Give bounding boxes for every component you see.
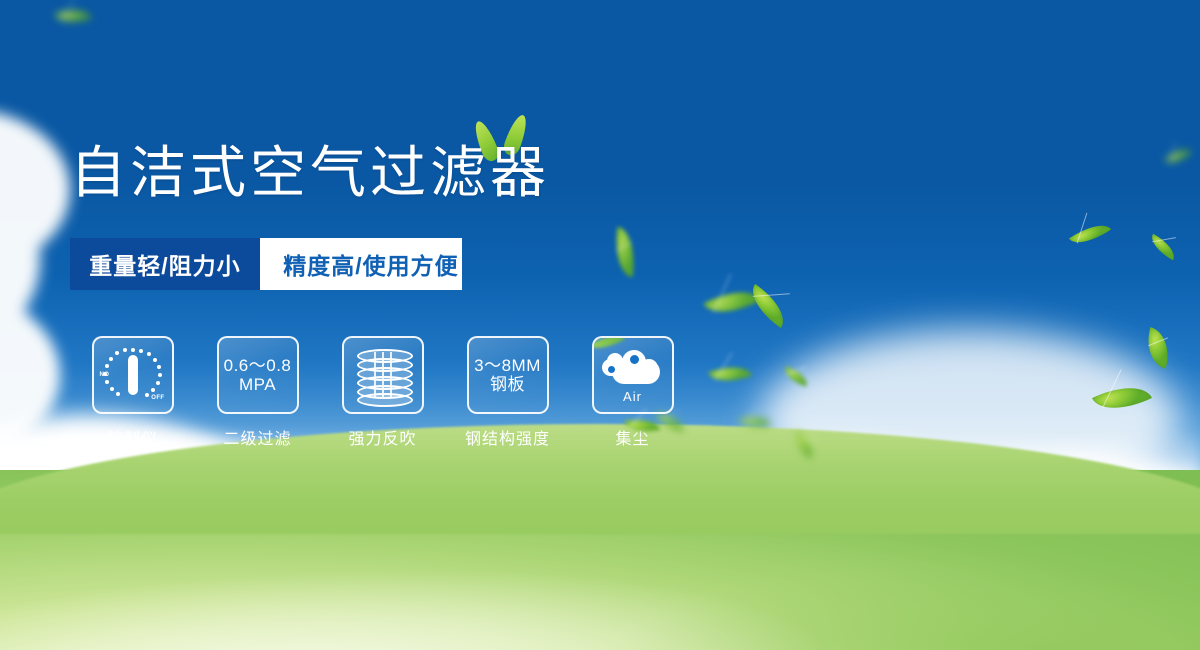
- page-title: 自洁式空气过滤器: [70, 145, 550, 201]
- feature-item-two-stage-filter[interactable]: 0.6～0.8 MPA 二级过滤: [195, 336, 320, 449]
- plate-thickness-text: 3～8MM: [474, 356, 541, 375]
- leaf-icon: [1069, 216, 1111, 252]
- subtitle-bar: 重量轻/阻力小 精度高/使用方便: [70, 238, 462, 290]
- hero-banner: 自洁式空气过滤器 重量轻/阻力小 精度高/使用方便: [0, 0, 1200, 650]
- pressure-unit-text: MPA: [239, 375, 276, 394]
- feature-item-steel-strength[interactable]: 3～8MM 钢板 钢结构强度: [445, 336, 570, 449]
- plate-material-text: 钢板: [490, 375, 525, 394]
- leaf-icon: [611, 227, 639, 278]
- feature-icon-box: NO OFF: [92, 336, 174, 414]
- feature-item-dust-collection[interactable]: Air 集尘: [570, 336, 695, 449]
- subtitle-left-text: 重量轻/阻力小: [89, 247, 240, 281]
- feature-item-controller[interactable]: NO OFF 控制仪: [70, 336, 195, 449]
- leaf-icon: [1141, 327, 1176, 369]
- feature-icon-box: Air: [592, 336, 674, 414]
- leaf-icon: [1146, 234, 1179, 260]
- feature-list: NO OFF 控制仪 0.6～0.8 MPA 二级过滤: [70, 336, 695, 449]
- pressure-range-text: 0.6～0.8: [224, 356, 292, 375]
- feature-label: 强力反吹: [348, 425, 416, 449]
- dial-label-on: NO: [100, 372, 110, 378]
- cloud-icon-caption: Air: [623, 389, 642, 404]
- feature-label: 二级过滤: [223, 425, 291, 449]
- leaf-icon: [54, 3, 91, 29]
- leaf-icon: [743, 284, 793, 328]
- leaf-icon: [703, 279, 760, 325]
- subtitle-right: 精度高/使用方便: [260, 238, 462, 290]
- feature-icon-box: 3～8MM 钢板: [467, 336, 549, 414]
- feature-icon-box: [342, 336, 424, 414]
- grass-path-highlight: [0, 503, 903, 650]
- cloud-large-right: [0, 110, 40, 460]
- subtitle-left: 重量轻/阻力小: [70, 238, 260, 290]
- feature-label: 控制仪: [107, 425, 158, 449]
- filter-stack-icon: [357, 349, 409, 401]
- subtitle-right-text: 精度高/使用方便: [283, 247, 458, 281]
- feature-icon-box: 0.6～0.8 MPA: [217, 336, 299, 414]
- feature-item-strong-backblow[interactable]: 强力反吹: [320, 336, 445, 449]
- dial-label-off: OFF: [151, 395, 164, 401]
- feature-label: 钢结构强度: [465, 425, 550, 449]
- leaf-icon: [708, 359, 752, 390]
- grass-field: [0, 470, 1200, 650]
- dial-gauge-icon: NO OFF: [101, 346, 165, 404]
- cloud-air-icon: [602, 348, 664, 388]
- leaf-icon: [1164, 143, 1192, 169]
